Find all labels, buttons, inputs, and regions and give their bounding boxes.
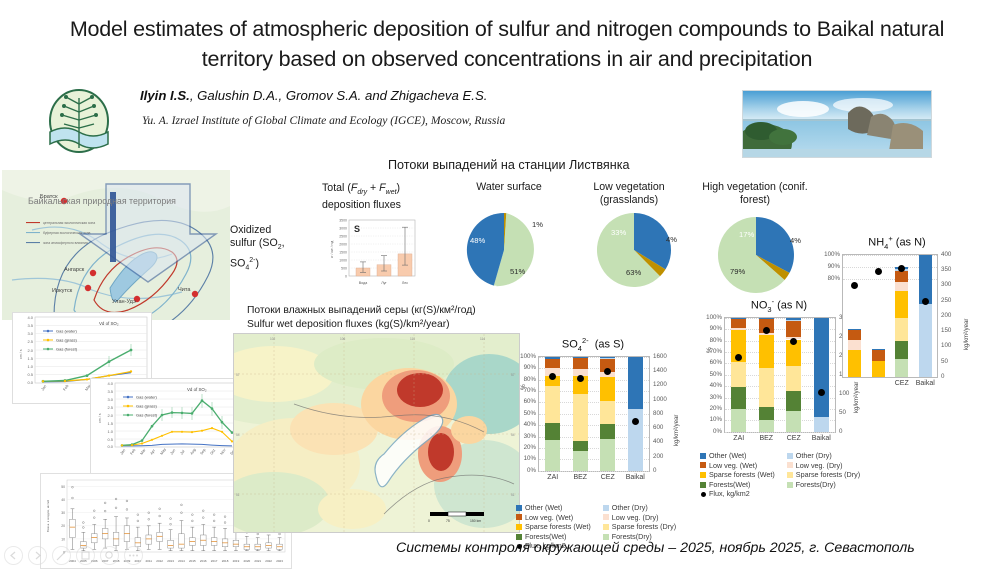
svg-text:0.0: 0.0	[107, 444, 113, 449]
svg-text:2.0: 2.0	[27, 348, 33, 353]
legend-item: Sparse forests (Wet)	[516, 522, 591, 532]
bar-segment	[872, 349, 885, 350]
svg-text:2004: 2004	[69, 559, 76, 563]
svg-text:Jul: Jul	[180, 449, 186, 455]
svg-text:30: 30	[61, 511, 65, 515]
pie-section-title: Потоки выпадений на станции Листвянка	[388, 158, 630, 172]
svg-text:Vd of SO₂: Vd of SO₂	[187, 387, 207, 392]
legend-item: Low veg. (Dry)	[787, 461, 860, 471]
legend-no3: Other (Wet)Other (Dry)Low veg. (Wet)Low …	[700, 451, 860, 499]
svg-text:0.5: 0.5	[27, 372, 33, 377]
axis-label-flux: kg/km²/year	[964, 319, 970, 350]
legend-item: Other (Wet)	[516, 503, 591, 513]
svg-text:2017: 2017	[211, 559, 218, 563]
svg-text:Gas (water): Gas (water)	[136, 394, 158, 399]
y-axis-tick: 20%	[695, 405, 722, 412]
svg-text:1.0: 1.0	[27, 364, 33, 369]
y-axis-tick: 10%	[695, 416, 722, 423]
bar-segment	[600, 439, 615, 471]
svg-text:2.5: 2.5	[27, 339, 33, 344]
y-axis-tick: 40%	[695, 382, 722, 389]
legend-swatch	[516, 534, 522, 540]
chart-title-nh4: NH4+ (as N)	[812, 234, 982, 251]
legend-label: Sparse forests (Wet)	[709, 470, 775, 480]
bar-segment	[919, 304, 932, 377]
x-axis-tick: ZAI	[725, 435, 753, 442]
bar-segment	[895, 271, 908, 282]
bar-column	[848, 255, 861, 377]
bar-column	[759, 318, 774, 432]
x-axis-tick: CEZ	[594, 474, 622, 481]
bar-segment	[919, 255, 932, 304]
svg-text:Ангарск: Ангарск	[64, 267, 85, 273]
y2-axis-tick: 50	[941, 358, 948, 365]
svg-text:110: 110	[410, 337, 415, 341]
legend-swatch	[516, 514, 522, 520]
svg-text:20: 20	[61, 524, 65, 528]
bar-segment	[545, 386, 560, 422]
bar-segment	[848, 330, 861, 340]
pen-icon[interactable]	[52, 546, 71, 565]
svg-text:Лес: Лес	[402, 281, 408, 285]
zoom-icon[interactable]	[100, 546, 119, 565]
pie-slice-label: 17%	[739, 230, 754, 239]
y2-axis-tick: 0	[941, 373, 944, 380]
svg-text:4.0: 4.0	[107, 381, 113, 386]
pie-slice-label: 51%	[510, 267, 525, 276]
y-axis-tick: 40%	[509, 421, 536, 428]
pie-slice-label: 4%	[666, 235, 677, 244]
y2-axis-tick: 400	[653, 438, 663, 445]
svg-text:51: 51	[511, 493, 515, 497]
gridline	[539, 471, 649, 472]
axis-label-flux: kg/km²/year	[854, 382, 860, 413]
svg-text:Aug: Aug	[190, 448, 197, 456]
legend-swatch	[787, 482, 793, 488]
legend-swatch	[603, 534, 609, 540]
bar-segment	[545, 423, 560, 440]
stacked-chart-nh4: NH4+ (as N) 80%90%100%050100150200250300…	[812, 234, 982, 378]
legend-item: Other (Dry)	[787, 451, 860, 461]
page-title: Model estimates of atmospheric depositio…	[52, 14, 962, 74]
svg-text:2014: 2014	[178, 559, 185, 563]
legend-label: Forests(Wet)	[709, 480, 750, 490]
svg-text:0: 0	[428, 519, 430, 523]
author-primary: Ilyin I.S.	[140, 88, 190, 103]
y-axis-tick: 80%	[695, 337, 722, 344]
bar-segment	[600, 424, 615, 439]
y-axis-tick: 0%	[509, 467, 536, 474]
legend-swatch	[700, 462, 706, 468]
legend-item: Low veg. (Dry)	[603, 513, 676, 523]
bar-segment	[786, 411, 801, 432]
svg-text:2500: 2500	[339, 234, 347, 238]
bar-column	[895, 255, 908, 377]
svg-text:3.5: 3.5	[27, 323, 33, 328]
bar-segment	[573, 358, 588, 369]
stacked-chart-so4: SO42- (as S) 0%10%20%30%40%50%60%70%80%9…	[508, 336, 678, 472]
svg-text:2012: 2012	[156, 559, 163, 563]
svg-text:Feb: Feb	[130, 448, 137, 456]
svg-text:114: 114	[480, 337, 485, 341]
prev-slide-icon[interactable]	[4, 546, 23, 565]
svg-text:2015: 2015	[189, 559, 196, 563]
bar-segment	[600, 358, 615, 359]
bar-segment	[786, 318, 801, 320]
pie-title-high-vegetation: High vegetation (conif.forest)	[690, 181, 820, 207]
y-axis-tick: 10%	[509, 455, 536, 462]
legend-item: Other (Wet)	[700, 451, 775, 461]
svg-text:2018: 2018	[222, 559, 229, 563]
y-axis-tick: 90%	[813, 263, 840, 270]
baikal-photo	[742, 90, 932, 158]
legend-swatch	[787, 472, 793, 478]
pie-slice-label: 48%	[470, 236, 485, 245]
svg-text:Vd of SO₂: Vd of SO₂	[99, 321, 119, 326]
svg-text:2000: 2000	[339, 242, 347, 246]
y2-axis-tick: 600	[653, 424, 663, 431]
pie-slice-label: 1%	[532, 220, 543, 229]
svg-text:Oct: Oct	[210, 449, 217, 456]
y-axis-tick: 50%	[695, 371, 722, 378]
bar-segment	[759, 407, 774, 421]
y-axis-tick: 80%	[813, 275, 840, 282]
legend-item: Forests(Dry)	[787, 480, 860, 490]
legend-label: Flux, kg/km2	[709, 489, 750, 499]
flux-marker	[632, 418, 639, 425]
svg-text:Вода: Вода	[359, 281, 367, 285]
bar-segment	[814, 417, 829, 432]
svg-text:106: 106	[340, 337, 346, 341]
svg-text:1000: 1000	[339, 258, 347, 262]
flux-marker	[818, 389, 825, 396]
vd-so2-chart-2: 4.03.53.0 2.52.01.5 1.00.50.0 cm / s Vd …	[90, 378, 242, 474]
pie-chart-water-surface: 48% 1% 51%	[448, 211, 560, 294]
legend-item: Sparse forests (Dry)	[603, 522, 676, 532]
pie-title-water: Water surface	[449, 181, 569, 194]
bar-segment	[600, 401, 615, 424]
next-slide-icon[interactable]	[28, 546, 47, 565]
bar-segment	[759, 368, 774, 407]
bar-segment	[731, 318, 746, 319]
svg-text:Nov: Nov	[220, 448, 227, 456]
svg-text:2011: 2011	[146, 559, 153, 563]
svg-text:4.0: 4.0	[27, 315, 33, 320]
bar-column	[786, 318, 801, 432]
legend-swatch	[603, 505, 609, 511]
legend-swatch	[603, 514, 609, 520]
x-axis-tick: CEZ	[780, 435, 808, 442]
bar-column	[628, 357, 643, 471]
svg-text:102: 102	[270, 337, 276, 341]
legend-swatch	[787, 462, 793, 468]
svg-text:2020: 2020	[244, 559, 251, 563]
bar-segment	[731, 362, 746, 387]
more-options-icon[interactable]	[124, 546, 143, 565]
bar-segment	[600, 377, 615, 401]
y-axis-tick: 80%	[509, 376, 536, 383]
legend-flux-dot	[701, 492, 706, 497]
svg-text:57: 57	[236, 373, 240, 377]
legend-label: Low veg. (Wet)	[525, 513, 573, 523]
svg-text:10: 10	[61, 537, 65, 541]
svg-text:Mar: Mar	[140, 447, 147, 455]
grid-view-icon[interactable]	[76, 546, 95, 565]
bar-column	[731, 318, 746, 432]
x-axis-tick: ZAI	[539, 474, 567, 481]
bar-segment	[895, 291, 908, 318]
bar-segment	[573, 451, 588, 470]
legend-label: Other (Dry)	[796, 451, 832, 461]
legend-swatch	[700, 453, 706, 459]
bar-column	[919, 255, 932, 377]
svg-text:2023: 2023	[276, 559, 283, 563]
baikal-territory-map: Братск Ангарск Иркутск Улан-Удэ Чита цен…	[2, 170, 230, 320]
svg-text:150 km: 150 km	[470, 519, 481, 523]
pie-title-low-vegetation: Low vegetation(grasslands)	[569, 181, 689, 207]
y-axis-tick: 20%	[509, 444, 536, 451]
legend-label: Sparse forests (Dry)	[612, 522, 676, 532]
legend-label: Other (Wet)	[709, 451, 746, 461]
legend-item-flux: Flux, kg/km2	[700, 489, 775, 499]
bar-segment	[573, 394, 588, 441]
svg-text:Feb: Feb	[63, 384, 70, 392]
svg-text:54: 54	[236, 433, 240, 437]
axis-label-percent: %	[706, 347, 713, 353]
y2-axis-tick: 1000	[653, 396, 667, 403]
y-axis-tick: 60%	[509, 398, 536, 405]
bar-segment	[872, 350, 885, 361]
authors-line: Ilyin I.S., Galushin D.A., Gromov S.A. a…	[140, 88, 780, 103]
svg-text:центральная экологическая зона: центральная экологическая зона	[43, 221, 95, 225]
sulfur-wet-deposition-map: 102106110114 575451 575451 0 75 150 km m…	[233, 333, 520, 533]
legend-swatch	[787, 453, 793, 459]
y-axis-tick: 100%	[813, 251, 840, 258]
y2-axis-tick: 0	[653, 467, 656, 474]
y2-axis-tick: 0	[839, 428, 842, 435]
bar-segment	[731, 328, 746, 330]
sulfur-map-title-ru: Потоки влажных выпадений серы (кг(S)/км²…	[247, 305, 476, 316]
flux-marker	[922, 298, 929, 305]
y2-axis-tick: 1600	[653, 353, 667, 360]
svg-text:Jan: Jan	[41, 384, 48, 391]
svg-text:Gas (forest): Gas (forest)	[136, 412, 158, 417]
y-axis-tick: 100%	[509, 353, 536, 360]
flux-marker	[763, 327, 770, 334]
svg-text:3500: 3500	[339, 218, 347, 222]
y2-axis-tick: 200	[941, 312, 951, 319]
svg-text:1500: 1500	[339, 250, 347, 254]
pie-chart-low-vegetation: 33% 4% 63%	[578, 211, 690, 294]
legend-item: Sparse forests (Wet)	[700, 470, 775, 480]
bar-segment	[848, 340, 861, 350]
bar-segment	[545, 440, 560, 471]
bar-segment	[786, 320, 801, 321]
y-axis-tick: 30%	[695, 394, 722, 401]
svg-text:3000: 3000	[339, 226, 347, 230]
y2-axis-tick: 150	[941, 327, 951, 334]
svg-text:Gas (grass): Gas (grass)	[56, 337, 78, 342]
y-axis-tick: 50%	[509, 410, 536, 417]
legend-swatch	[516, 524, 522, 530]
svg-text:2.5: 2.5	[107, 405, 113, 410]
pie-slice-label: 4%	[790, 236, 801, 245]
bar-segment	[759, 335, 774, 368]
legend-label: Other (Dry)	[612, 503, 648, 513]
svg-text:Иркутск: Иркутск	[52, 288, 73, 294]
bar-segment	[786, 391, 801, 412]
bar-segment	[731, 409, 746, 432]
y-axis-tick: 0%	[695, 428, 722, 435]
legend-item: Forests(Wet)	[700, 480, 775, 490]
y2-axis-tick: 400	[941, 251, 951, 258]
bar-segment	[895, 359, 908, 377]
axis-label-percent: %	[520, 384, 527, 390]
svg-text:Взвеш. в воздухе, мкг/м3: Взвеш. в воздухе, мкг/м3	[46, 499, 50, 532]
bar-segment	[731, 387, 746, 409]
svg-text:S: S	[354, 224, 360, 234]
svg-text:1.0: 1.0	[107, 429, 113, 434]
legend-label: Sparse forests (Dry)	[796, 470, 860, 480]
x-axis-tick: BEZ	[753, 435, 781, 442]
svg-text:3.0: 3.0	[27, 331, 33, 336]
slide-root: Model estimates of atmospheric depositio…	[0, 0, 1008, 573]
bar-segment	[573, 441, 588, 451]
gridline	[725, 432, 835, 433]
pie-chart-high-vegetation: 17% 4% 79%	[700, 215, 812, 300]
y2-axis-tick: 1400	[653, 367, 667, 374]
svg-text:May: May	[160, 447, 167, 455]
bar-segment	[600, 357, 615, 358]
bar-segment	[545, 359, 560, 368]
svg-text:2021: 2021	[254, 559, 261, 563]
svg-text:2022: 2022	[265, 559, 272, 563]
svg-text:0.0: 0.0	[27, 380, 33, 385]
bar-segment	[895, 318, 908, 341]
institute-logo	[40, 88, 118, 158]
axis-label-flux: kg/km²/year	[674, 415, 680, 446]
svg-text:Gas (grass): Gas (grass)	[136, 403, 158, 408]
y2-axis-tick: 50	[839, 409, 846, 416]
svg-text:50: 50	[61, 485, 65, 489]
author-others: , Galushin D.A., Gromov S.A. and Zhigach…	[190, 88, 488, 103]
y-axis-tick: 90%	[695, 325, 722, 332]
legend-label: Low veg. (Dry)	[796, 461, 843, 471]
legend-item: Other (Dry)	[603, 503, 676, 513]
svg-text:Улан-Удэ: Улан-Удэ	[112, 299, 136, 305]
y2-axis-tick: 800	[653, 410, 663, 417]
legend-label: Sparse forests (Wet)	[525, 522, 591, 532]
svg-text:75: 75	[446, 519, 450, 523]
y2-axis-tick: 350	[941, 266, 951, 273]
y2-axis-tick: 250	[941, 297, 951, 304]
svg-text:1.5: 1.5	[27, 356, 33, 361]
bar-segment	[628, 357, 643, 409]
svg-text:0.5: 0.5	[107, 437, 113, 442]
oxidized-sulfur-label: Oxidizedsulfur (SO2,SO42-)	[230, 224, 310, 275]
bar-segment	[895, 341, 908, 358]
svg-text:Sep: Sep	[200, 448, 207, 456]
bar-segment	[848, 350, 861, 377]
y2-axis-tick: 1200	[653, 381, 667, 388]
bar-segment	[759, 420, 774, 431]
svg-text:Jun: Jun	[170, 448, 177, 455]
legend-label: Other (Wet)	[525, 503, 562, 513]
bar-segment	[786, 366, 801, 391]
y-axis-tick: 90%	[509, 364, 536, 371]
y-axis-tick: 30%	[509, 433, 536, 440]
chart-title-so4: SO42- (as S)	[508, 336, 678, 353]
legend-spacer	[787, 489, 860, 499]
s-flux-bar-chart: 350030002500 200015001000 5000 кг / км² …	[322, 218, 420, 292]
bar-segment	[786, 321, 801, 337]
svg-text:0: 0	[345, 274, 347, 278]
svg-text:Чита: Чита	[178, 287, 191, 293]
bar-segment	[731, 319, 746, 328]
svg-text:1.5: 1.5	[107, 421, 113, 426]
y-axis-tick: 60%	[695, 359, 722, 366]
affiliation: Yu. A. Izrael Institute of Global Climat…	[142, 114, 802, 127]
legend-label: Forests(Dry)	[796, 480, 836, 490]
x-axis-tick: Baikal	[808, 435, 836, 442]
svg-text:2016: 2016	[200, 559, 207, 563]
x-axis-tick: Baikal	[914, 380, 938, 387]
bar-segment	[895, 282, 908, 292]
svg-text:Apr: Apr	[150, 448, 157, 456]
conference-footer: Системы контроля окружающей среды – 2025…	[396, 540, 996, 556]
svg-text:40: 40	[61, 498, 65, 502]
y2-axis-tick: 100	[839, 390, 849, 397]
svg-text:2.0: 2.0	[107, 413, 113, 418]
svg-text:cm / s: cm / s	[98, 413, 102, 423]
bar-segment	[848, 329, 861, 330]
legend-swatch	[603, 524, 609, 530]
y-axis-tick: 100%	[695, 314, 722, 321]
svg-text:3.0: 3.0	[107, 397, 113, 402]
legend-swatch	[700, 472, 706, 478]
svg-text:51: 51	[236, 493, 240, 497]
svg-text:Gas (forest): Gas (forest)	[56, 346, 78, 351]
svg-text:зона атмосферного влияния: зона атмосферного влияния	[43, 241, 88, 245]
y2-axis-tick: 200	[653, 453, 663, 460]
pie-slice-label: 33%	[611, 228, 626, 237]
x-axis-tick: CEZ	[890, 380, 914, 387]
svg-text:500: 500	[341, 266, 347, 270]
pie-slice-label: 63%	[626, 268, 641, 277]
flux-marker	[875, 268, 882, 275]
legend-item: Low veg. (Wet)	[516, 513, 591, 523]
svg-text:2019: 2019	[233, 559, 240, 563]
bar-column	[573, 357, 588, 471]
bar-segment	[759, 318, 774, 319]
svg-text:Jan: Jan	[120, 448, 127, 455]
sulfur-map-title-en: Sulfur wet deposition fluxes (kg(S)/km²/…	[247, 319, 450, 330]
flux-marker	[577, 375, 584, 382]
left-map-title: Байкальская природная территория	[28, 196, 176, 206]
legend-item: Low veg. (Wet)	[700, 461, 775, 471]
y2-axis-tick: 100	[941, 342, 951, 349]
svg-text:2013: 2013	[167, 559, 174, 563]
legend-label: Low veg. (Wet)	[709, 461, 757, 471]
legend-item: Sparse forests (Dry)	[787, 470, 860, 480]
svg-text:кг / км² / год: кг / км² / год	[330, 241, 334, 258]
svg-text:Луг: Луг	[381, 281, 387, 285]
svg-text:Gas (water): Gas (water)	[56, 328, 78, 333]
y2-axis-tick: 300	[941, 281, 951, 288]
legend-swatch	[516, 505, 522, 511]
bar-segment	[545, 357, 560, 359]
pie-slice-label: 79%	[730, 267, 745, 276]
